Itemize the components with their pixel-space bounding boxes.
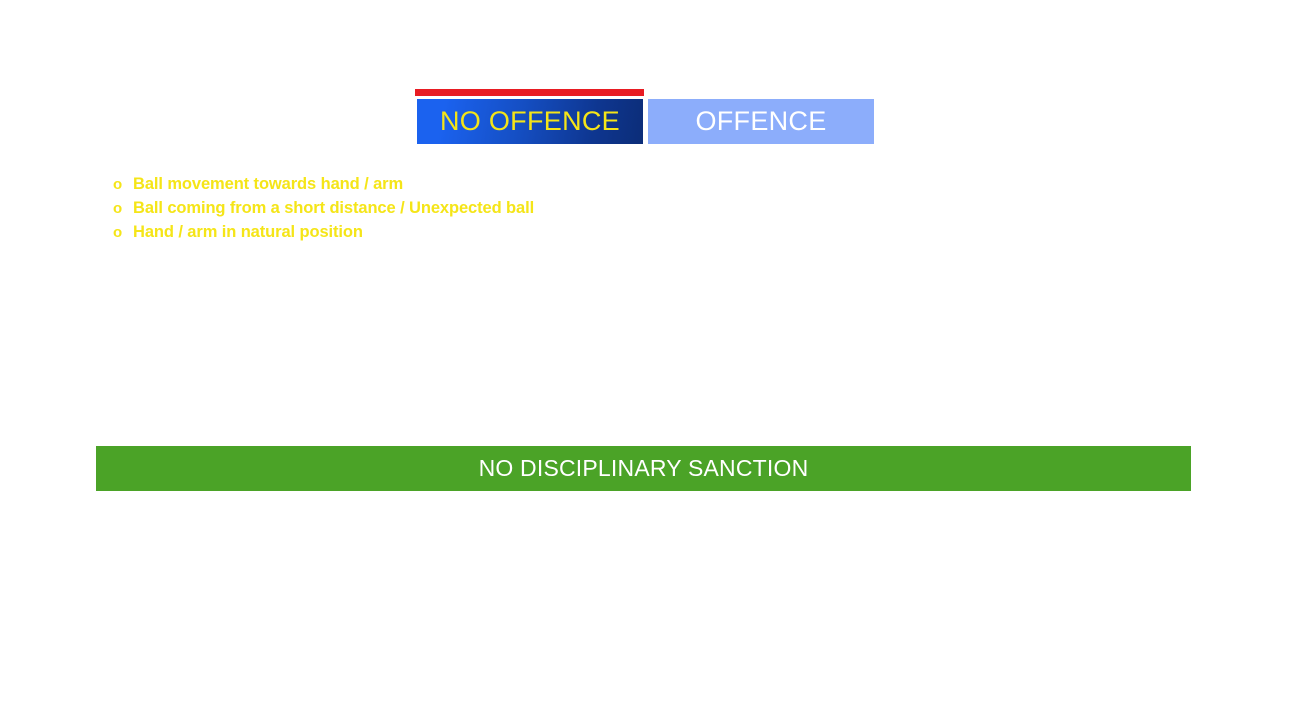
criteria-item-label: Ball coming from a short distance / Unex…	[133, 196, 534, 220]
circle-bullet-icon: o	[113, 221, 133, 245]
tab-no-offence-label: NO OFFENCE	[440, 106, 620, 137]
list-item: o Ball movement towards hand / arm	[113, 172, 813, 196]
list-item: o Hand / arm in natural position	[113, 220, 813, 244]
criteria-item-label: Hand / arm in natural position	[133, 220, 363, 244]
criteria-list: o Ball movement towards hand / arm o Bal…	[113, 172, 813, 244]
outcome-banner: NO DISCIPLINARY SANCTION	[96, 446, 1191, 491]
tab-offence[interactable]: OFFENCE	[648, 99, 874, 144]
tab-no-offence[interactable]: NO OFFENCE	[417, 99, 643, 144]
outcome-banner-label: NO DISCIPLINARY SANCTION	[479, 455, 809, 482]
criteria-item-label: Ball movement towards hand / arm	[133, 172, 403, 196]
list-item: o Ball coming from a short distance / Un…	[113, 196, 813, 220]
selected-tab-accent-bar	[415, 89, 644, 96]
slide-canvas: NO OFFENCE OFFENCE o Ball movement towar…	[0, 0, 1290, 727]
decision-tab-group: NO OFFENCE OFFENCE	[415, 89, 875, 145]
circle-bullet-icon: o	[113, 197, 133, 221]
circle-bullet-icon: o	[113, 173, 133, 197]
tab-offence-label: OFFENCE	[695, 106, 826, 137]
